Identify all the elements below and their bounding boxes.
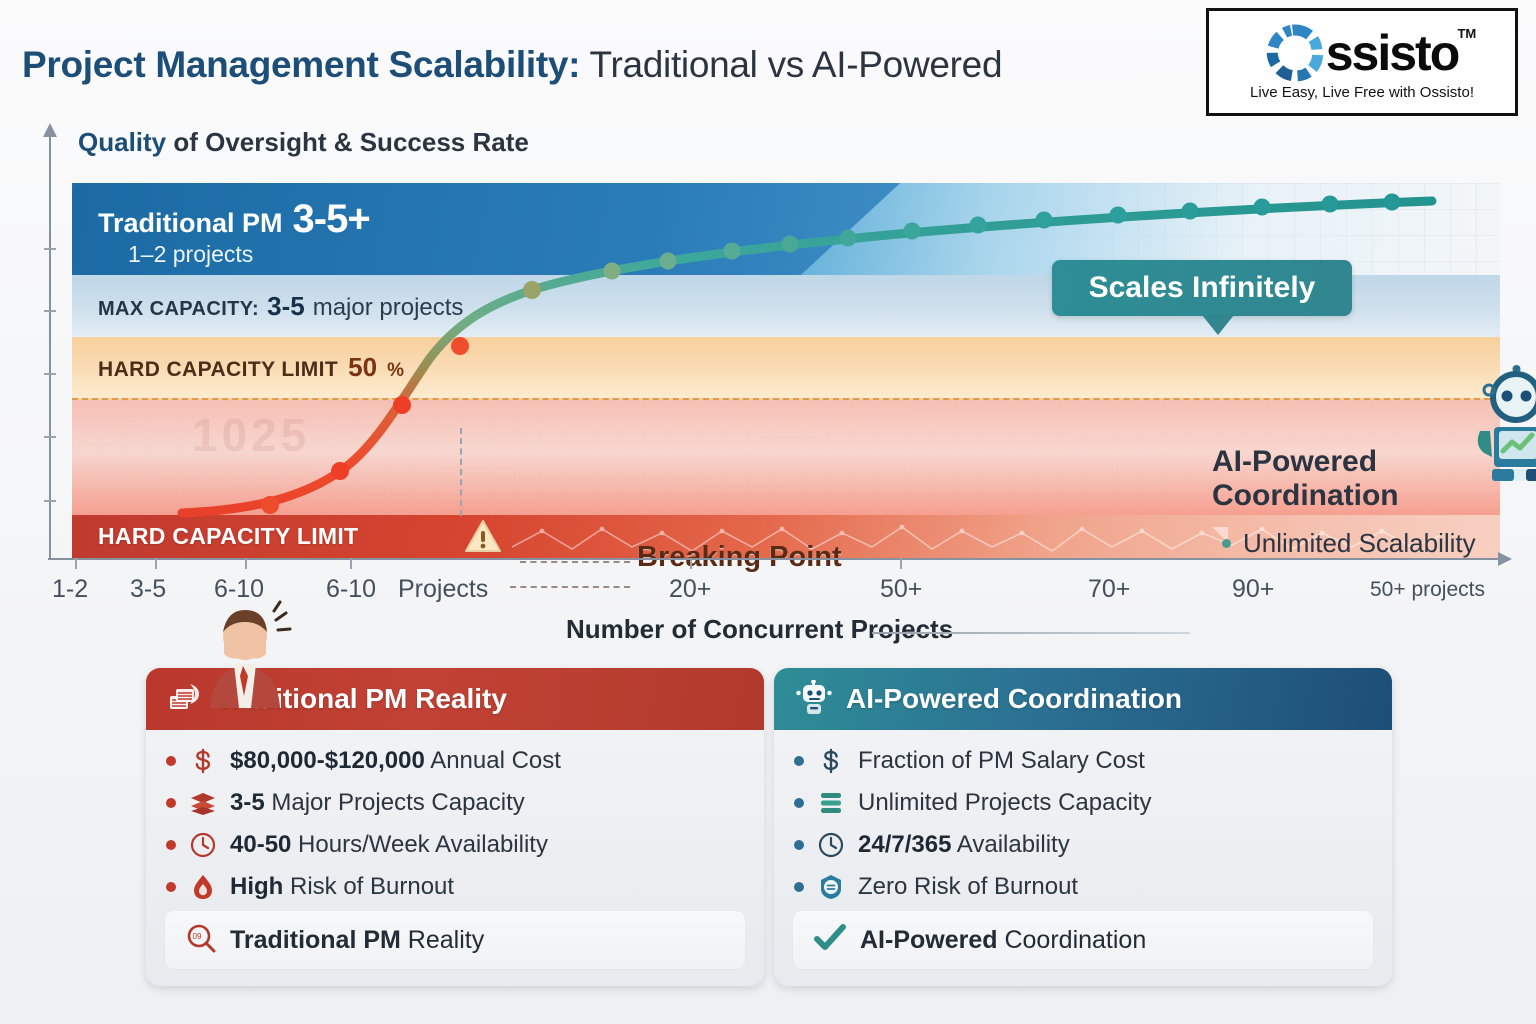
y-axis-title-highlight: Quality [78,127,166,157]
bullet-dot-icon [1222,539,1231,548]
robot-illustration [1458,365,1536,485]
clock-icon [816,830,846,860]
list-item: High Risk of Burnout [166,872,744,902]
x-tick-label-6: 50+ [880,575,922,604]
ossisto-ring-icon [1266,24,1324,82]
y-axis-line [49,125,51,560]
stressed-manager-illustration [190,598,300,708]
x-axis-title: Number of Concurrent Projects [566,614,953,645]
y-axis-tick [44,373,56,375]
trademark-symbol: TM [1457,26,1476,41]
card-right-footer: AI-Powered Coordination [792,910,1374,970]
check-icon [814,924,846,957]
bullet-dot-icon [166,840,176,850]
scales-infinitely-text: Scales Infinitely [1089,271,1316,305]
list-item-text: $80,000-$120,000 Annual Cost [230,747,561,775]
ai-coordination-title: AI-Powered Coordination [1212,445,1399,512]
card-left-footer-rest: Reality [401,926,484,954]
card-right-footer-bold: AI-Powered [860,926,998,954]
list-item: Unlimited Projects Capacity [794,788,1372,818]
layers-icon [188,788,218,818]
badge-icon [816,872,846,902]
bullet-dot-icon [794,756,804,766]
list-item-text: 40-50 Hours/Week Availability [230,831,548,859]
ai-title-line2: Coordination [1212,479,1399,512]
list-item-rest: Unlimited Projects Capacity [858,789,1151,816]
y-axis-title-rest: of Oversight & Success Rate [166,127,529,157]
magnifier-icon: 09 [186,923,216,958]
bullet-dot-icon [166,756,176,766]
page-title-rest: Traditional vs AI-Powered [580,44,1002,85]
x-axis-tick [900,558,902,569]
bullet-dot-icon [794,798,804,808]
list-item-text: Zero Risk of Burnout [858,873,1078,901]
y-axis-tick [44,500,56,502]
card-left-footer-text: Traditional PM Reality [230,926,484,955]
infographic-page: Project Management Scalability: Traditio… [0,0,1536,1024]
x-axis-title-rule [872,632,1190,634]
x-tick-label-1: 1-2 [52,575,88,604]
logo-tagline: Live Easy, Live Free with Ossisto! [1250,84,1474,101]
list-item-bold: 40-50 [230,831,291,858]
plot-area: Traditional PM 3-5+ 1–2 projects MAX CAP… [72,183,1500,558]
x-tick-label-9: 50+ projects [1370,578,1485,602]
card-right-footer-text: AI-Powered Coordination [860,926,1146,955]
brand-logo: ssisto TM Live Easy, Live Free with Ossi… [1206,8,1518,116]
logo-wordmark: ssisto [1326,28,1459,78]
list-item-text: 24/7/365 Availability [858,831,1070,859]
x-tick-label-2: 3-5 [130,575,166,604]
scales-infinitely-callout: Scales Infinitely [1052,260,1352,316]
robot-icon [796,680,832,719]
ai-title-line1: AI-Powered [1212,445,1377,478]
y-axis-tick [44,310,56,312]
bullet-dot-icon [794,840,804,850]
card-traditional-pm-reality: Traditional PM Reality $80,000-$120,000 … [146,668,764,986]
list-item-text: Fraction of PM Salary Cost [858,747,1145,775]
x-tick-label-5: 20+ [669,575,711,604]
x-tick-label-8: 90+ [1232,575,1274,604]
card-left-footer: 09 Traditional PM Reality [164,910,746,970]
card-left-body: $80,000-$120,000 Annual Cost 3-5 Major P… [146,730,764,902]
card-right-title: AI-Powered Coordination [846,683,1182,715]
card-ai-powered-coordination: AI-Powered Coordination Fraction of PM S… [774,668,1392,986]
list-item-rest: Annual Cost [425,747,561,774]
list-item: Fraction of PM Salary Cost [794,746,1372,776]
dollar-icon [816,746,846,776]
page-title: Project Management Scalability: Traditio… [22,44,1002,86]
x-axis-tick [155,558,157,569]
breaking-point-leader-lower [510,586,630,588]
y-axis-tick [44,436,56,438]
list-item-bold: 3-5 [230,789,265,816]
comparison-cards: Traditional PM Reality $80,000-$120,000 … [0,668,1536,1008]
list-item-rest: Fraction of PM Salary Cost [858,747,1145,774]
list-item-text: 3-5 Major Projects Capacity [230,789,525,817]
y-axis-title: Quality of Oversight & Success Rate [78,127,529,158]
bullet-dot-icon [794,882,804,892]
card-right-body: Fraction of PM Salary Cost Unlimited Pro… [774,730,1392,902]
bullet-dot-icon [166,882,176,892]
card-left-footer-bold: Traditional PM [230,926,401,954]
x-axis-tick [245,558,247,569]
scalability-chart: Quality of Oversight & Success Rate Trad… [0,120,1536,645]
list-item-bold: High [230,873,283,900]
list-item-text: High Risk of Burnout [230,873,454,901]
x-tick-label-4-extra: Projects [398,575,488,604]
x-axis-tick [75,558,77,569]
svg-text:09: 09 [193,932,202,941]
card-right-footer-rest: Coordination [998,926,1147,954]
stack-icon [816,788,846,818]
list-item-rest: Zero Risk of Burnout [858,873,1078,900]
ai-bullet-text: Unlimited Scalability [1243,528,1476,559]
logo-row: ssisto TM [1266,24,1459,82]
x-axis-tick [690,558,692,569]
list-item: $80,000-$120,000 Annual Cost [166,746,744,776]
dollar-icon [188,746,218,776]
list-item-rest: Risk of Burnout [283,873,454,900]
list-item: 24/7/365 Availability [794,830,1372,860]
x-axis-tick [350,558,352,569]
bullet-dot-icon [166,798,176,808]
breaking-point-leader-upper [520,561,630,563]
list-item-rest: Major Projects Capacity [265,789,525,816]
x-tick-label-4: 6-10 [326,575,376,604]
card-right-header: AI-Powered Coordination [774,668,1392,730]
flame-icon [188,872,218,902]
list-item: 3-5 Major Projects Capacity [166,788,744,818]
list-item-text: Unlimited Projects Capacity [858,789,1151,817]
list-item-rest: Hours/Week Availability [291,831,548,858]
page-title-highlight: Project Management Scalability: [22,44,580,85]
clock-icon [188,830,218,860]
list-item-rest: Availability [951,831,1069,858]
list-item-bold: $80,000-$120,000 [230,747,425,774]
y-axis-tick [44,248,56,250]
x-tick-label-7: 70+ [1088,575,1130,604]
list-item-bold: 24/7/365 [858,831,951,858]
list-item: Zero Risk of Burnout [794,872,1372,902]
list-item: 40-50 Hours/Week Availability [166,830,744,860]
ai-bullet-row: Unlimited Scalability [1222,528,1476,559]
